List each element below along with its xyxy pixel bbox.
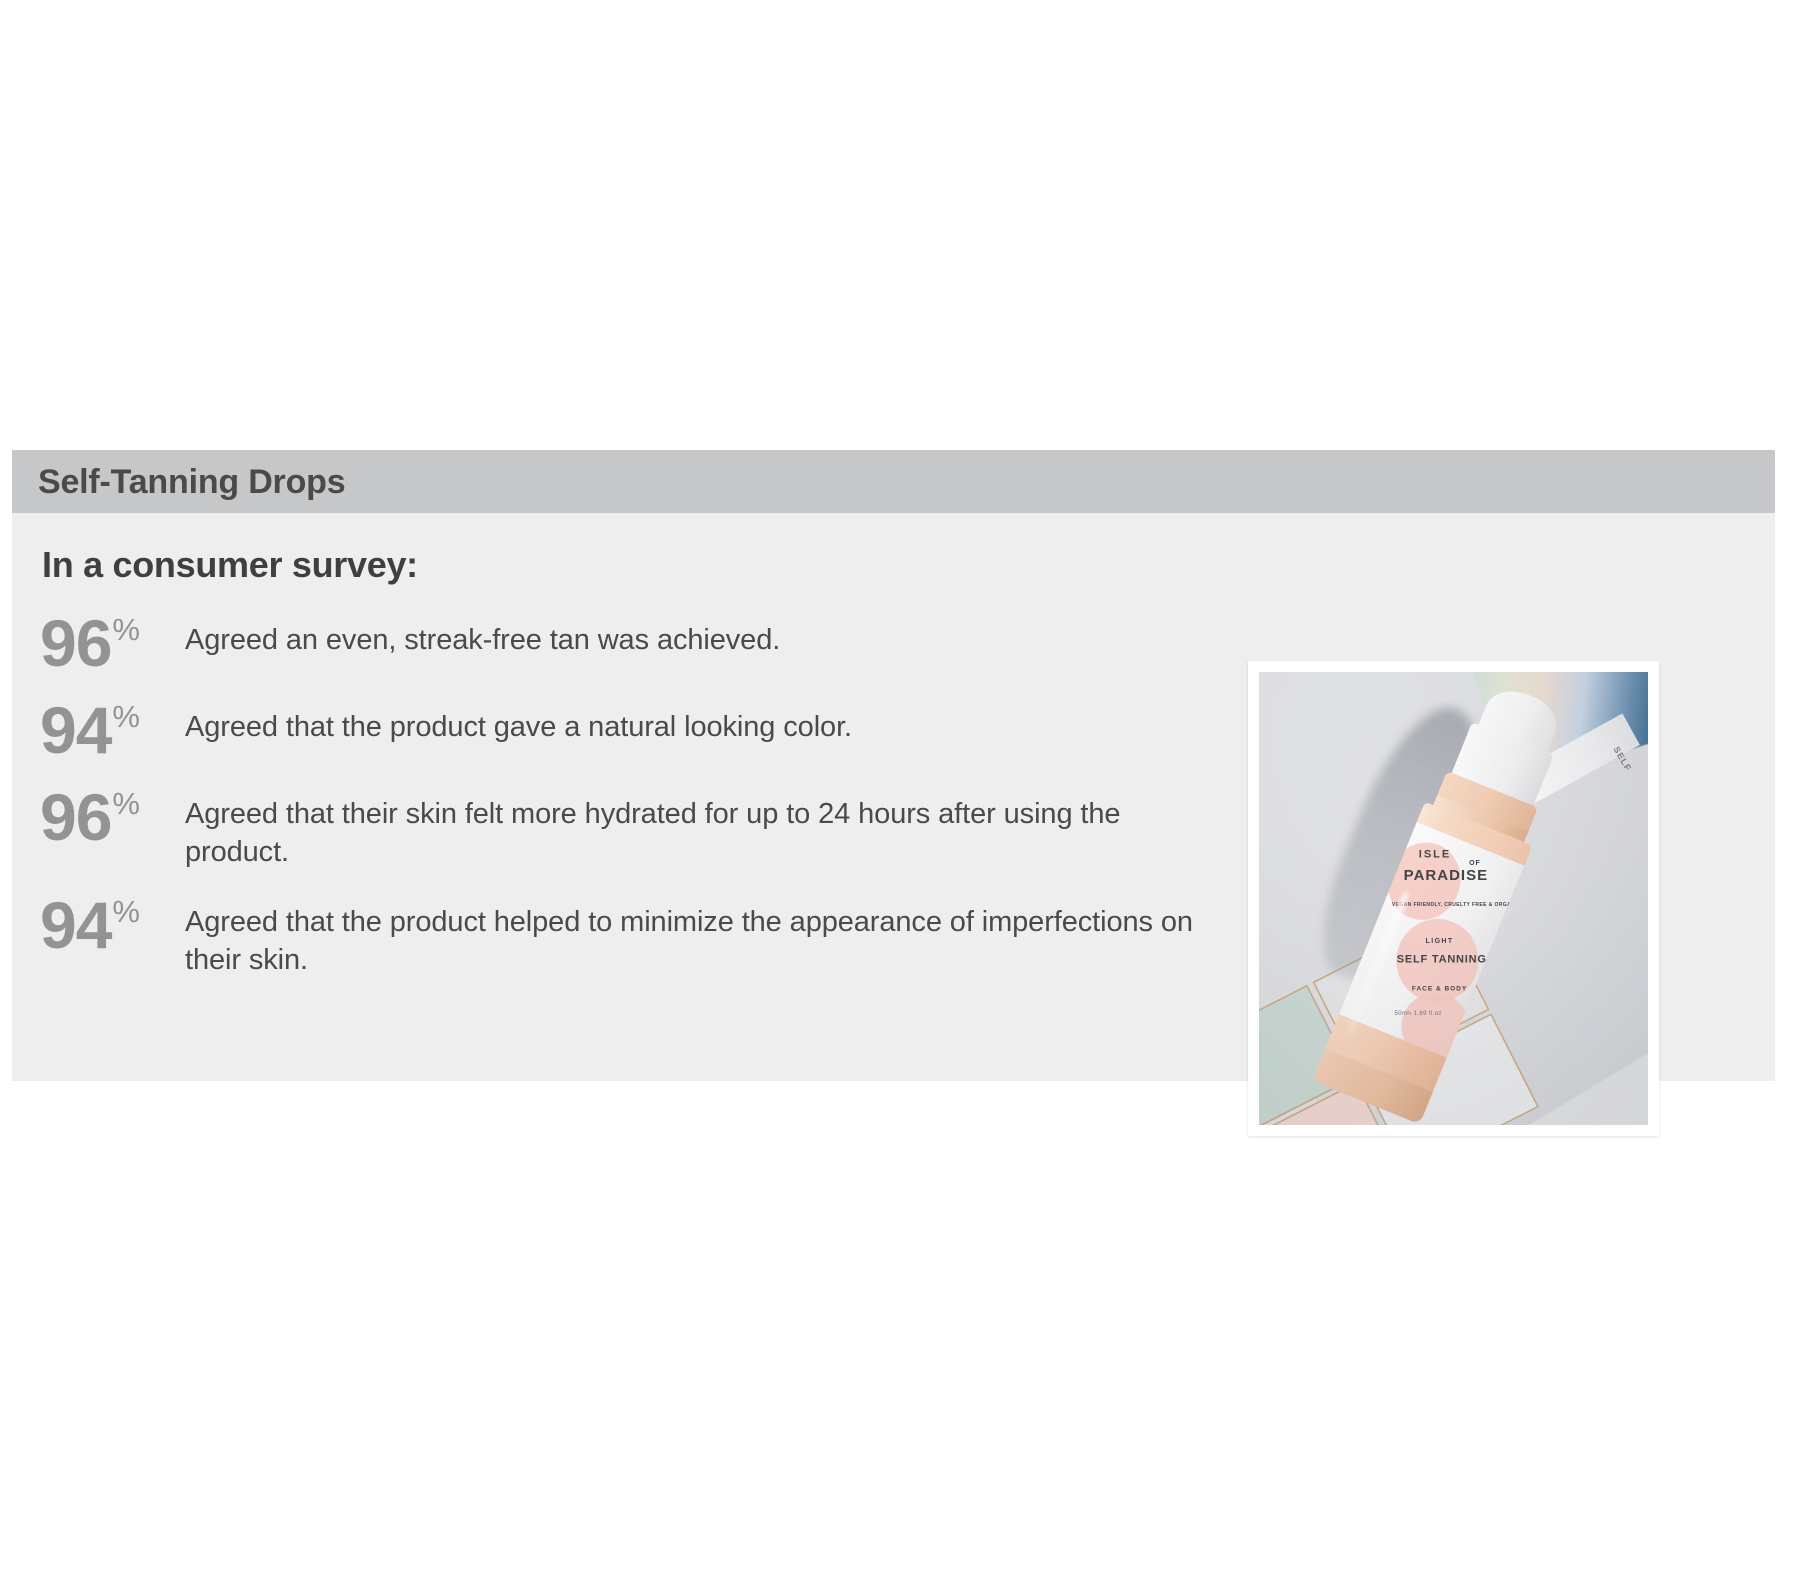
- stat-description: Agreed that the product gave a natural l…: [185, 706, 1200, 746]
- stat-percent-sign: %: [112, 788, 140, 819]
- survey-column: In a consumer survey: 96 % Agreed an eve…: [40, 545, 1200, 980]
- stat-description: Agreed that the product helped to minimi…: [185, 901, 1200, 980]
- stat-value: 94: [40, 697, 111, 763]
- self-tanning-drops-module: Self-Tanning Drops In a consumer survey:…: [12, 450, 1775, 1081]
- stat-figure: 96 %: [40, 784, 185, 850]
- product-photo: SELF ISLE O: [1259, 672, 1648, 1125]
- page-root: Self-Tanning Drops In a consumer survey:…: [0, 0, 1795, 1596]
- product-photo-frame: SELF ISLE O: [1248, 661, 1659, 1136]
- module-title: Self-Tanning Drops: [38, 465, 345, 499]
- stat-percent-sign: %: [112, 896, 140, 927]
- survey-stat-row: 94 % Agreed that the product helped to m…: [40, 901, 1200, 980]
- stat-percent-sign: %: [112, 701, 140, 732]
- stat-value: 96: [40, 784, 111, 850]
- survey-stat-row: 96 % Agreed an even, streak-free tan was…: [40, 619, 1200, 676]
- label-volume: 50ml℩ 1.69 fl.oz: [1394, 1010, 1441, 1017]
- label-claims: VEGAN FRIENDLY, CRUELTY FREE & ORGANIC: [1392, 902, 1521, 908]
- stat-description: Agreed an even, streak-free tan was achi…: [185, 619, 1200, 659]
- module-header: Self-Tanning Drops: [12, 450, 1775, 513]
- module-body: In a consumer survey: 96 % Agreed an eve…: [12, 513, 1775, 1081]
- stat-percent-sign: %: [112, 614, 140, 645]
- survey-stat-list: 96 % Agreed an even, streak-free tan was…: [40, 619, 1200, 980]
- label-brand-isle: ISLE: [1418, 848, 1450, 860]
- stat-figure: 94 %: [40, 892, 185, 958]
- label-shade: LIGHT: [1426, 938, 1454, 945]
- label-usage: FACE & BODY: [1411, 985, 1466, 992]
- label-brand-paradise: PARADISE: [1403, 867, 1487, 884]
- stat-description: Agreed that their skin felt more hydrate…: [185, 793, 1200, 872]
- survey-stat-row: 96 % Agreed that their skin felt more hy…: [40, 793, 1200, 872]
- stat-value: 94: [40, 892, 111, 958]
- survey-stat-row: 94 % Agreed that the product gave a natu…: [40, 706, 1200, 763]
- label-brand-of: OF: [1469, 859, 1481, 866]
- stat-value: 96: [40, 610, 111, 676]
- survey-heading: In a consumer survey:: [42, 545, 1200, 585]
- stat-figure: 96 %: [40, 610, 185, 676]
- stat-figure: 94 %: [40, 697, 185, 763]
